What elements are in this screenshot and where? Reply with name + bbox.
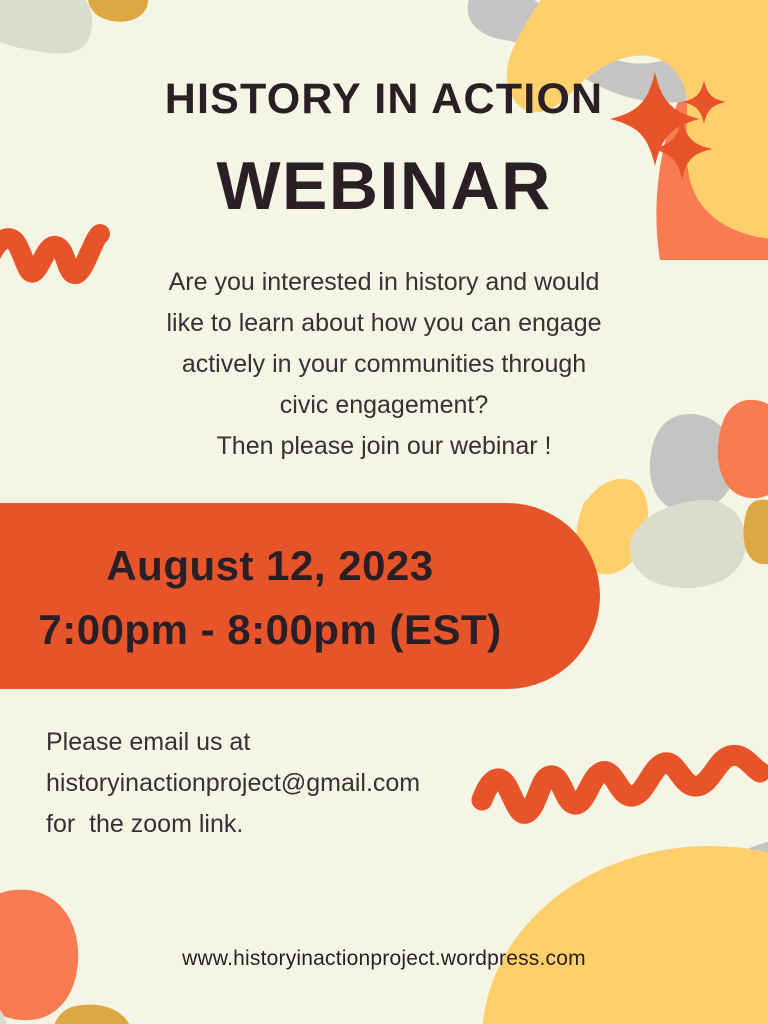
event-time: 7:00pm - 8:00pm (EST) [0,598,580,662]
description-line: Are you interested in history and would [84,262,684,303]
description-line: actively in your communities through [84,344,684,385]
contact-text: Please email us at historyinactionprojec… [46,722,606,845]
poster-canvas: HISTORY IN ACTION WEBINAR Are you intere… [0,0,768,1024]
description-line: like to learn about how you can engage [84,303,684,344]
contact-email: historyinactionproject@gmail.com [46,763,606,804]
contact-line: for the zoom link. [46,804,606,845]
description-text: Are you interested in history and would … [84,262,684,467]
description-line: civic engagement? [84,385,684,426]
website-url: www.historyinactionproject.wordpress.com [0,947,768,971]
event-date: August 12, 2023 [0,534,580,598]
date-time-text: August 12, 2023 7:00pm - 8:00pm (EST) [0,534,580,662]
description-line: Then please join our webinar ! [84,426,684,467]
page-title: HISTORY IN ACTION [0,78,768,121]
poster-content: HISTORY IN ACTION WEBINAR Are you intere… [0,0,768,1024]
page-subtitle: WEBINAR [0,152,768,220]
contact-line: Please email us at [46,722,606,763]
